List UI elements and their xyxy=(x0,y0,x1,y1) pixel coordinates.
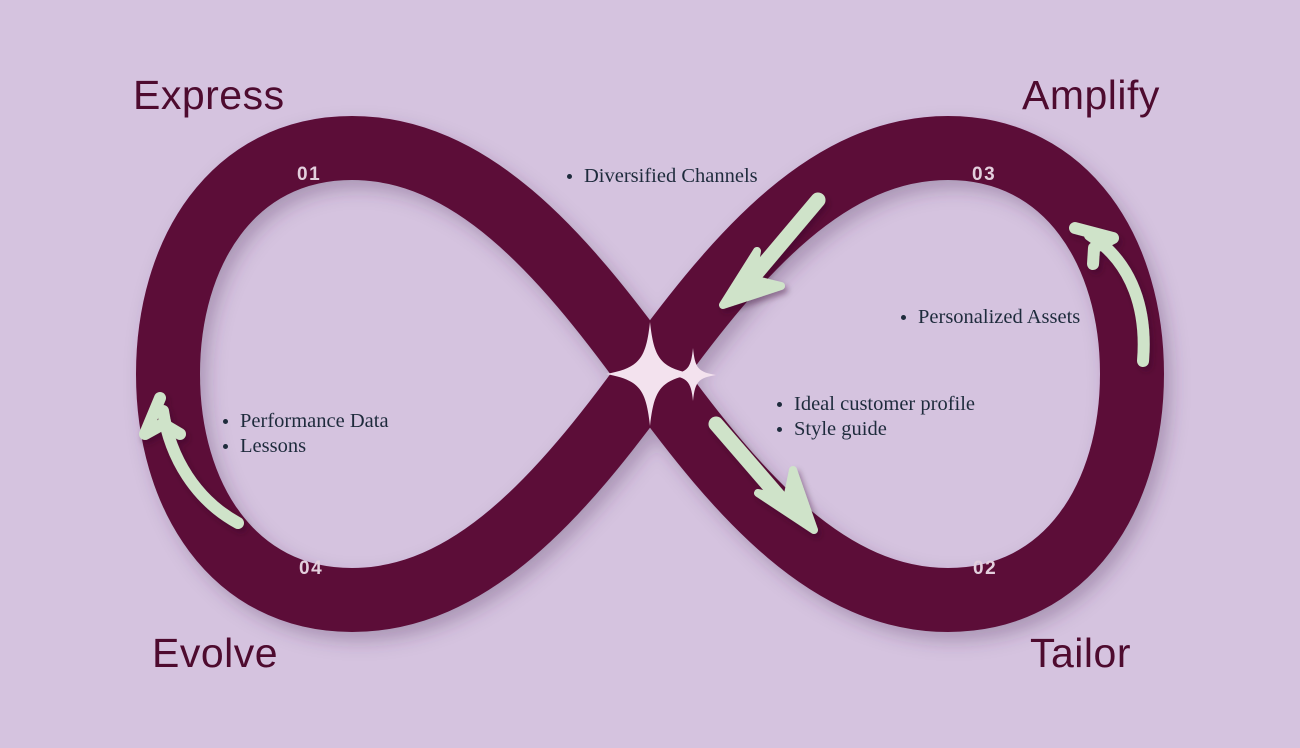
stage-label-evolve: Evolve xyxy=(152,630,278,677)
stage-label-amplify: Amplify xyxy=(1022,72,1160,119)
note-tailor-inputs: Ideal customer profile Style guide xyxy=(772,392,975,442)
note-diversified-channels: Diversified Channels xyxy=(562,164,758,189)
note-list: Diversified Channels xyxy=(562,164,758,189)
note-evolve-outputs: Performance Data Lessons xyxy=(218,409,389,459)
list-item: Ideal customer profile xyxy=(794,392,975,417)
note-list: Performance Data Lessons xyxy=(218,409,389,459)
text-layer: Express Amplify Evolve Tailor 01 03 04 0… xyxy=(0,0,1300,748)
step-number-02: 02 xyxy=(973,558,997,580)
list-item: Style guide xyxy=(794,417,975,442)
note-list: Personalized Assets xyxy=(896,305,1080,330)
note-list: Ideal customer profile Style guide xyxy=(772,392,975,442)
list-item: Diversified Channels xyxy=(584,164,758,189)
note-personalized-assets: Personalized Assets xyxy=(896,305,1080,330)
list-item: Lessons xyxy=(240,434,389,459)
list-item: Performance Data xyxy=(240,409,389,434)
step-number-01: 01 xyxy=(297,164,321,186)
list-item: Personalized Assets xyxy=(918,305,1080,330)
step-number-03: 03 xyxy=(972,164,996,186)
step-number-04: 04 xyxy=(299,558,323,580)
stage-label-express: Express xyxy=(133,72,285,119)
stage-label-tailor: Tailor xyxy=(1030,630,1131,677)
